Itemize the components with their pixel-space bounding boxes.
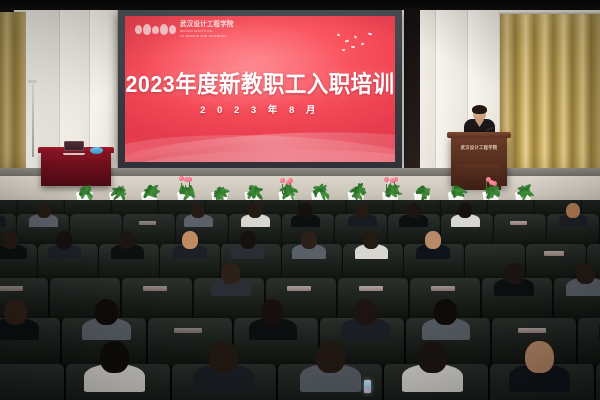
attendee-head [56, 231, 72, 249]
auditorium-seat [122, 278, 192, 320]
flower-bloom [393, 177, 398, 182]
slide-speck-decor [345, 39, 349, 42]
podium-nameplate: 武汉设计工程学院 [458, 144, 500, 152]
curtain-rod [498, 11, 600, 14]
attendee-head [316, 341, 345, 373]
attendee-head [2, 231, 18, 249]
attendee-head [298, 203, 312, 219]
podium-top [447, 132, 511, 138]
flower-bloom [187, 177, 192, 182]
slide-speck-decor [354, 35, 358, 38]
attendee-head [434, 299, 457, 325]
seat-number-plate [0, 286, 23, 291]
flower-stem [189, 180, 190, 194]
attendee-head [4, 299, 27, 325]
seat-number-plate [510, 221, 528, 225]
attendee-head [354, 299, 377, 325]
attendee-head [119, 231, 135, 249]
attendee-head [301, 231, 317, 249]
slide-speck-decor [351, 46, 355, 49]
seat-number-plate [287, 286, 311, 291]
slide-speck-decor [361, 42, 364, 45]
seat-number-plate [174, 328, 203, 334]
seat-number-plate [359, 286, 383, 291]
slide-speck-decor [337, 33, 341, 36]
podium-sign-text: 武汉设计工程学院 [461, 145, 498, 151]
flower-stem [394, 182, 395, 194]
blue-desk-object [90, 147, 103, 154]
microphone-head-icon [28, 80, 37, 83]
flower-stem [185, 185, 186, 194]
flower-stem [181, 183, 182, 194]
seat-number-plate [139, 221, 157, 225]
attendee-head [355, 203, 369, 219]
attendee-head [100, 341, 129, 373]
auditorium-seat [70, 214, 122, 247]
flower-stem [282, 184, 283, 194]
attendee-head [191, 203, 205, 219]
logo-english-line1: WUHAN INSTITUTE [180, 30, 234, 33]
auditorium-seat [494, 214, 546, 247]
seat-number-plate [431, 286, 455, 291]
attendee-head [418, 341, 447, 373]
flower-bloom [384, 177, 389, 182]
attendee-head [261, 299, 284, 325]
attendee-head [566, 203, 580, 219]
seat-number-plate [143, 286, 167, 291]
logo-english-line2: OF DESIGN AND SCIENCES [180, 35, 234, 38]
projection-screen-frame: 武汉设计工程学院 WUHAN INSTITUTE OF DESIGN AND S… [118, 10, 402, 168]
auditorium-seat [578, 318, 600, 366]
attendee-head [458, 203, 472, 219]
slide-title: 2023年度新教职工入职培训 [125, 66, 395, 100]
laptop-icon [63, 141, 85, 153]
attendee-head [240, 231, 256, 249]
flower-bloom [280, 178, 285, 183]
logo-chinese-name: 武汉设计工程学院 [180, 22, 234, 29]
stage-curtain-left [0, 12, 26, 188]
flower-stem [290, 183, 291, 194]
attendee-head [576, 263, 595, 284]
seat-number-plate [544, 251, 564, 255]
seat-number-plate [518, 328, 547, 334]
university-emblem-icon [135, 24, 176, 35]
slide-subtitle: 2 0 2 3 年 8 月 [125, 102, 395, 116]
flower-stem [390, 183, 391, 194]
attendee-head [37, 203, 51, 219]
projection-screen-surface: 武汉设计工程学院 WUHAN INSTITUTE OF DESIGN AND S… [125, 16, 395, 162]
attendee-head [505, 263, 524, 284]
right-pillar [404, 8, 420, 188]
slide-speck-decor [368, 33, 372, 36]
attendee-head [363, 231, 379, 249]
flower-stem [494, 185, 495, 194]
flower-stem [386, 184, 387, 194]
attendee-head [407, 203, 421, 219]
flower-bloom [288, 178, 293, 183]
speaker-hair [472, 105, 487, 114]
microphone-stand [32, 82, 34, 157]
auditorium-seat [0, 364, 64, 400]
slide-university-logo: 武汉设计工程学院 WUHAN INSTITUTE OF DESIGN AND S… [135, 22, 234, 38]
audience-seating-area [0, 200, 600, 400]
phone-screen-glow [364, 380, 371, 393]
slide-speck-decor [342, 49, 345, 51]
attendee-head [525, 341, 554, 373]
flower-stem [486, 180, 487, 194]
auditorium-seat [596, 364, 600, 400]
attendee-head [182, 231, 198, 249]
attendee-head [221, 263, 240, 284]
auditorium-photo-scene: 武汉设计工程学院 WUHAN INSTITUTE OF DESIGN AND S… [0, 0, 600, 400]
attendee-head [95, 299, 118, 325]
attendee-head [425, 231, 441, 249]
attendee-head [209, 341, 238, 373]
